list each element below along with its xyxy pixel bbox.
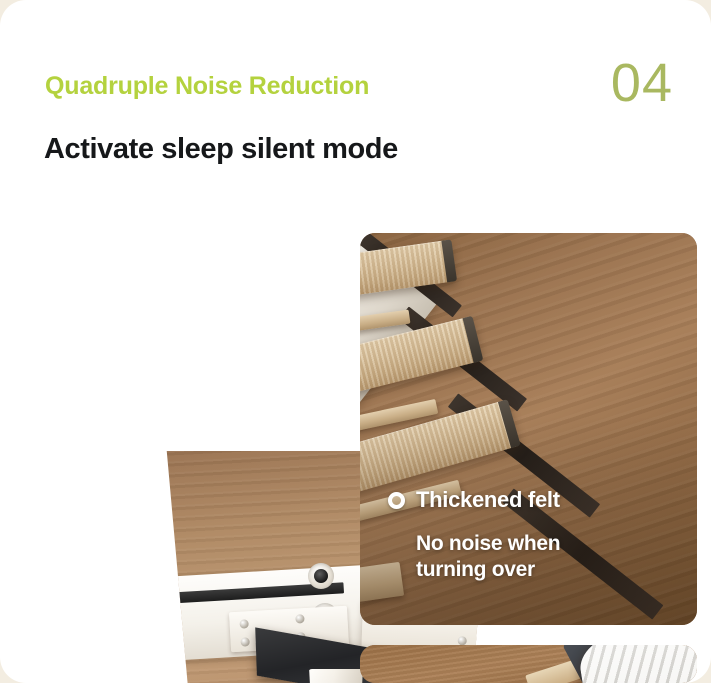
product-feature-card: Quadruple Noise Reduction 04 Activate sl… (0, 0, 711, 683)
screw-well (308, 563, 334, 589)
caption-subtitle: No noise when turning over (416, 531, 560, 583)
photo-column-left: Double reinforcement Reject abnormal noi… (12, 233, 349, 683)
section-eyebrow: Quadruple Noise Reduction (45, 72, 369, 101)
mattress-corner (576, 645, 697, 683)
caption-thickened-felt: Thickened felt No noise when turning ove… (388, 487, 560, 583)
caption-title: Thickened felt (416, 487, 560, 513)
ring-bullet-icon (388, 492, 405, 509)
bolt (295, 614, 304, 623)
bed-leg (308, 669, 364, 683)
bolt (239, 619, 248, 628)
step-number: 04 (611, 56, 673, 110)
photo-grid: Double reinforcement Reject abnormal noi… (0, 233, 711, 683)
caption-title-row: Thickened felt (388, 487, 560, 513)
photo-thickened-felt[interactable]: Thickened felt No noise when turning ove… (360, 233, 697, 625)
photo-mattress-detail[interactable] (360, 645, 697, 683)
photo-column-right: Thickened felt No noise when turning ove… (360, 233, 697, 683)
header: Quadruple Noise Reduction 04 Activate sl… (0, 0, 711, 218)
photo-scene (360, 645, 697, 683)
bolt (240, 637, 249, 646)
page-title: Activate sleep silent mode (44, 133, 398, 166)
screw-head (314, 569, 328, 583)
